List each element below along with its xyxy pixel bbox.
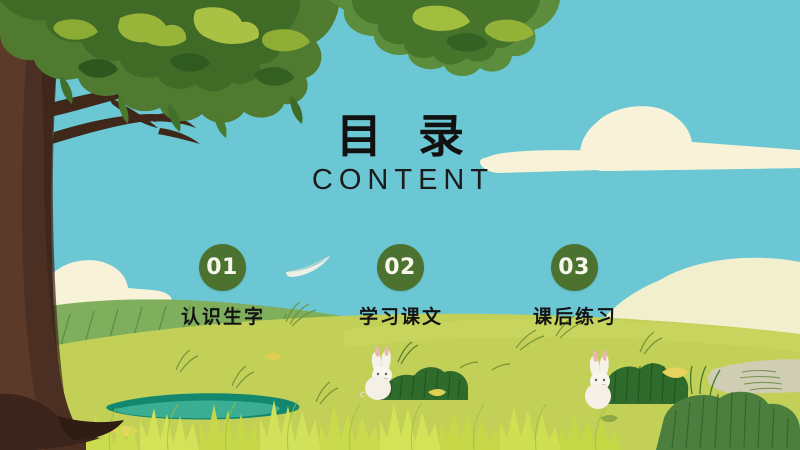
agenda-number: 02 bbox=[384, 255, 416, 280]
agenda-label: 认识生字 bbox=[142, 302, 302, 329]
circle-badge-icon[interactable]: 03 bbox=[551, 244, 598, 291]
rabbit-icon bbox=[585, 350, 611, 409]
leaf-icon bbox=[112, 353, 688, 436]
page-title-block: 目 录 CONTENT bbox=[0, 112, 800, 197]
circle-badge-icon[interactable]: 02 bbox=[377, 244, 424, 291]
pond-icon bbox=[106, 393, 299, 419]
agenda-number: 01 bbox=[206, 255, 238, 280]
agenda-item-3[interactable]: 03 课后练习 bbox=[494, 244, 654, 329]
grass-icon bbox=[398, 342, 418, 364]
grass-icon bbox=[109, 400, 606, 450]
slide-canvas: 目 录 CONTENT 01 认识生字 02 学习课文 03 课后练习 bbox=[0, 0, 800, 450]
bush-icon bbox=[656, 366, 800, 450]
foreground-grass-layer bbox=[0, 0, 800, 450]
agenda-number: 03 bbox=[558, 255, 590, 280]
agenda-list: 01 认识生字 02 学习课文 03 课后练习 bbox=[0, 244, 800, 334]
grass-icon bbox=[20, 400, 621, 450]
tree-icon bbox=[0, 0, 124, 450]
sky-and-clouds-layer bbox=[0, 0, 800, 450]
agenda-label: 课后练习 bbox=[494, 302, 654, 329]
page-title: 目 录 bbox=[0, 112, 800, 161]
rock-icon bbox=[708, 359, 800, 394]
page-subtitle: CONTENT bbox=[0, 165, 800, 197]
agenda-label: 学习课文 bbox=[320, 302, 480, 329]
rabbit-icon bbox=[360, 346, 392, 400]
circle-badge-icon[interactable]: 01 bbox=[199, 244, 246, 291]
bush-icon bbox=[602, 363, 688, 404]
bush-icon bbox=[380, 367, 468, 400]
bushes-and-rabbits-layer bbox=[0, 0, 800, 450]
agenda-item-1[interactable]: 01 认识生字 bbox=[142, 244, 302, 329]
tree-layer bbox=[0, 0, 800, 450]
meadow-layer bbox=[0, 0, 800, 450]
agenda-item-2[interactable]: 02 学习课文 bbox=[320, 244, 480, 329]
hills-layer bbox=[0, 0, 800, 450]
